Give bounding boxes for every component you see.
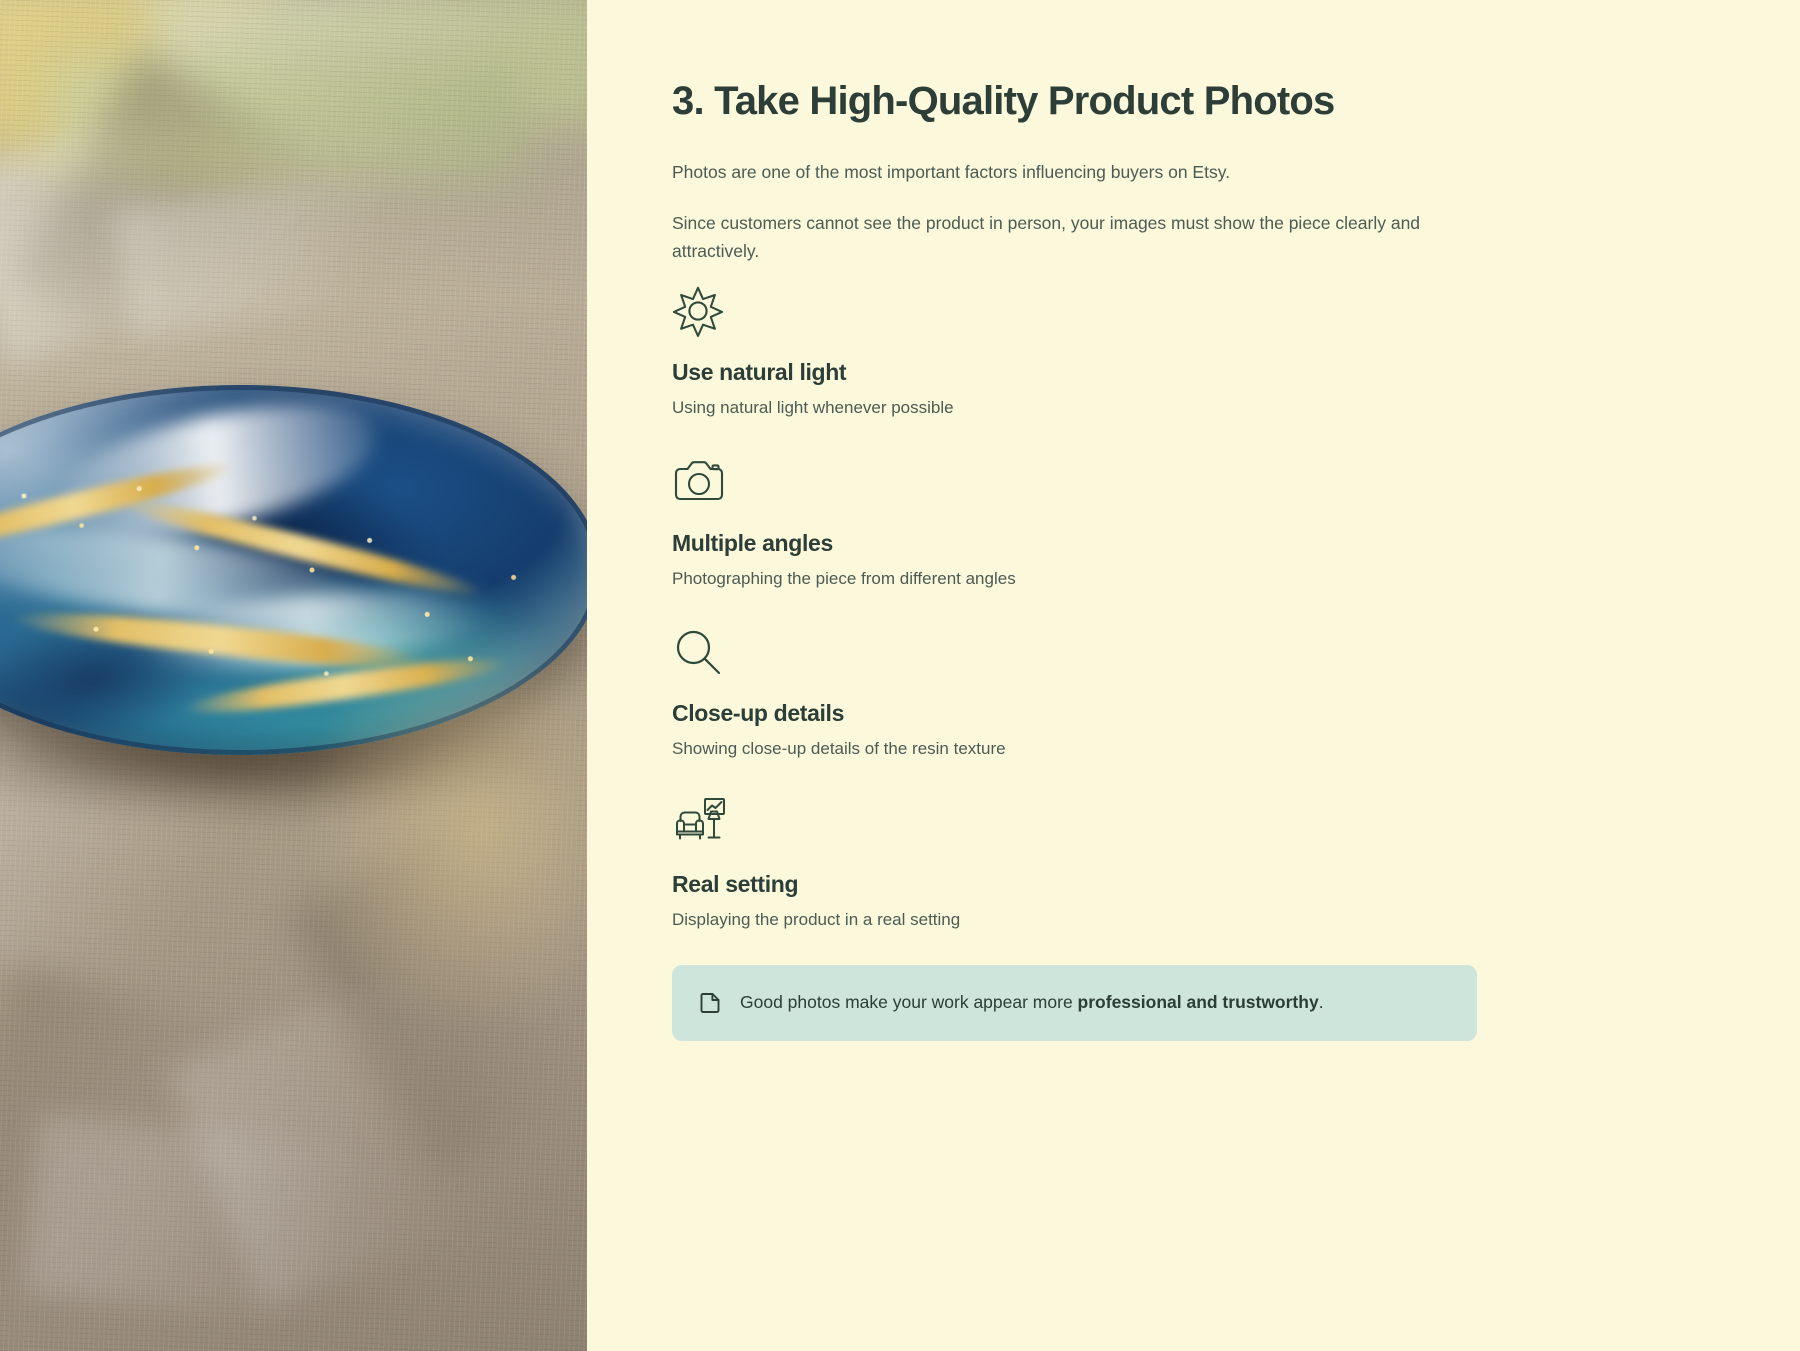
feature-title: Real setting (672, 871, 1800, 898)
gold-vein-1 (0, 453, 238, 558)
content-panel: 3. Take High-Quality Product Photos Phot… (587, 0, 1800, 1351)
magnifier-icon (672, 624, 728, 680)
intro-paragraph-1: Photos are one of the most important fac… (672, 158, 1442, 186)
callout-text-before: Good photos make your work appear more (740, 992, 1078, 1012)
intro-paragraph-2: Since customers cannot see the product i… (672, 209, 1442, 266)
camera-icon (672, 454, 728, 510)
feature-description: Photographing the piece from different a… (672, 566, 1800, 592)
note-icon (698, 991, 722, 1015)
feature-item-real-setting: Real setting Displaying the product in a… (672, 795, 1800, 933)
feature-title: Close-up details (672, 700, 1800, 727)
feature-title: Use natural light (672, 359, 1800, 386)
callout-text-after: . (1319, 992, 1324, 1012)
product-photo (0, 0, 587, 1351)
feature-item-use-natural-light: Use natural light Using natural light wh… (672, 283, 1800, 421)
feature-item-close-up-details: Close-up details Showing close-up detail… (672, 624, 1800, 762)
resin-swirl-white-1 (42, 385, 388, 561)
page-title: 3. Take High-Quality Product Photos (672, 78, 1800, 124)
callout-text-bold: professional and trustworthy (1078, 992, 1319, 1012)
sun-icon (672, 283, 728, 339)
feature-title: Multiple angles (672, 530, 1800, 557)
gold-vein-2 (113, 489, 488, 604)
feature-list: Use natural light Using natural light wh… (672, 283, 1800, 932)
feature-description: Displaying the product in a real setting (672, 907, 1800, 933)
living-room-icon (672, 795, 728, 851)
callout-box: Good photos make your work appear more p… (672, 965, 1477, 1040)
feature-description: Using natural light whenever possible (672, 395, 1800, 421)
slide-root: 3. Take High-Quality Product Photos Phot… (0, 0, 1800, 1351)
callout-text: Good photos make your work appear more p… (740, 990, 1324, 1015)
resin-swirl-dark-1 (128, 435, 453, 644)
feature-item-multiple-angles: Multiple angles Photographing the piece … (672, 454, 1800, 592)
feature-description: Showing close-up details of the resin te… (672, 736, 1800, 762)
warm-sunlight-glow (300, 620, 587, 1040)
